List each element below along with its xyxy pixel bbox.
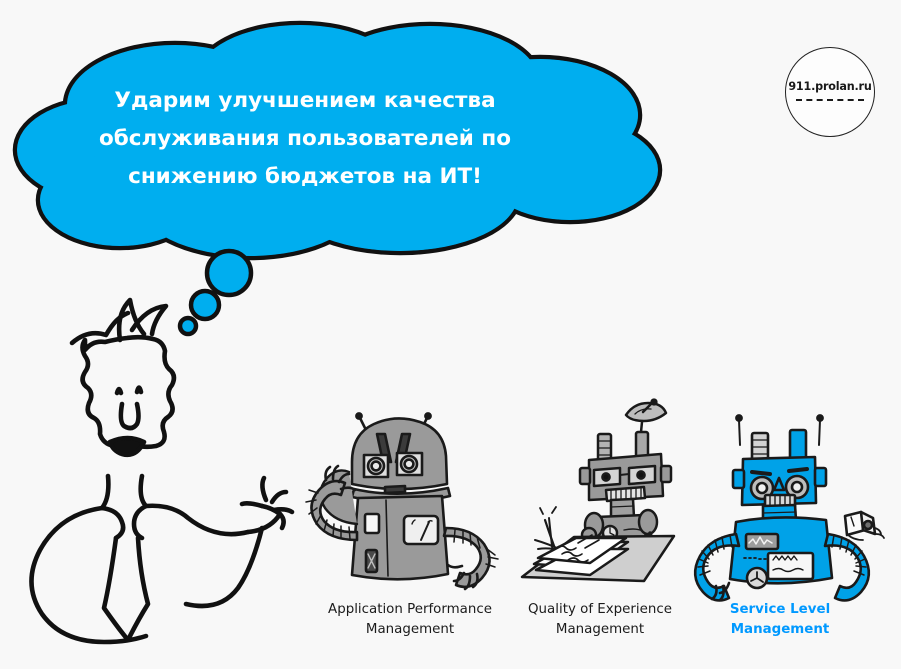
caption-service-level-management: Service Level Management: [700, 600, 860, 640]
logo-text: 911.prolan.ru: [786, 80, 874, 93]
logo-divider-line: [796, 99, 864, 101]
prolan-logo[interactable]: 911.prolan.ru: [785, 47, 875, 137]
caption-application-performance-management: Application Performance Management: [305, 600, 515, 640]
thought-bubble-text: Ударим улучшением качества обслуживания …: [72, 82, 538, 196]
slide-canvas: Ударим улучшением качества обслуживания …: [0, 0, 901, 669]
caption-quality-of-experience-management: Quality of Experience Management: [510, 600, 690, 640]
